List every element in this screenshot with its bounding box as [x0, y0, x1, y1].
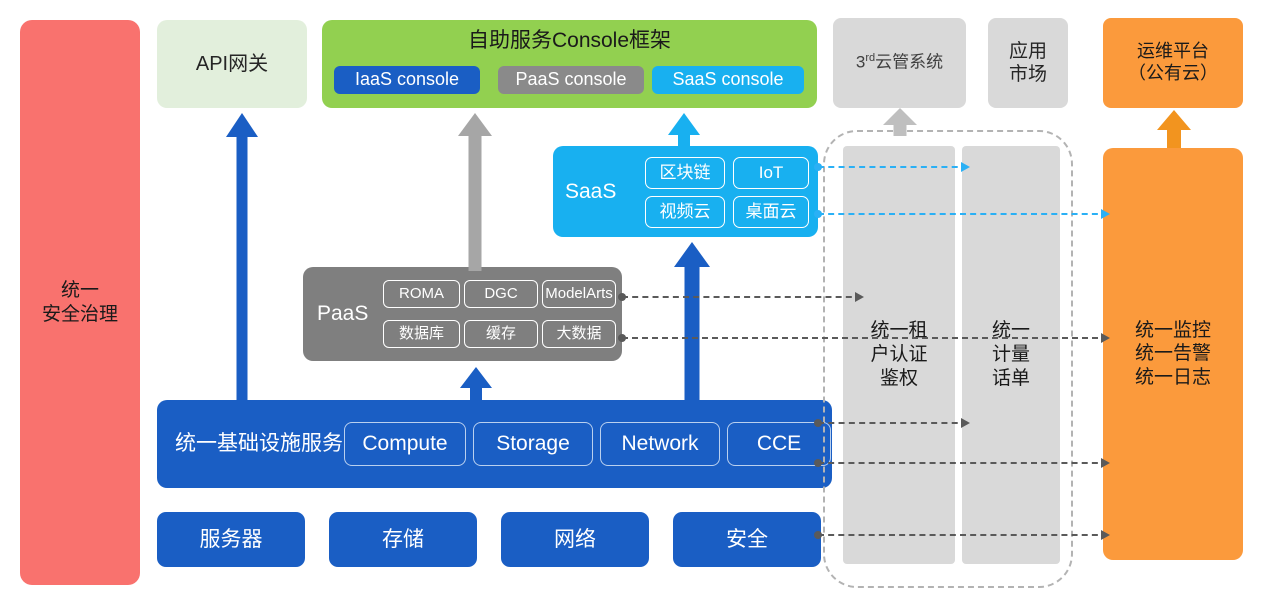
ops-platform-body-box: 统一监控 统一告警 统一日志 [1103, 148, 1243, 560]
unified-infrastructure-box: 统一基础设施服务 Compute Storage Network CCE [157, 400, 832, 488]
dashed-saas-to-ops [818, 213, 1108, 215]
architecture-diagram: 统一 安全治理 API网关 自助服务Console框架 IaaS console… [0, 0, 1265, 605]
console-frame-title: 自助服务Console框架 [322, 28, 817, 54]
tenant-auth-column: 统一租 户认证 鉴权 [843, 146, 955, 564]
arrow-head-icon [1101, 530, 1110, 540]
saas-chip-desktop-cloud[interactable]: 桌面云 [733, 196, 809, 228]
connector-dot [814, 210, 822, 218]
paas-chip-modelarts[interactable]: ModelArts [542, 280, 616, 308]
connector-dot [814, 459, 822, 467]
infra-chip-compute[interactable]: Compute [344, 422, 466, 466]
arrow-head-icon [1101, 333, 1110, 343]
paas-chip-cache[interactable]: 缓存 [464, 320, 538, 348]
unified-infrastructure-label: 统一基础设施服务 [175, 400, 343, 488]
connector-dot [618, 293, 626, 301]
resource-box-server[interactable]: 服务器 [157, 512, 305, 567]
third-party-cloud-mgmt-box: 3rd云管系统 [833, 18, 966, 108]
dashed-saas-to-metering [818, 166, 968, 168]
paas-console-chip[interactable]: PaaS console [498, 66, 644, 94]
paas-chip-roma[interactable]: ROMA [383, 280, 460, 308]
connector-dot [814, 163, 822, 171]
dashed-infra-to-ops [818, 462, 1108, 464]
resource-box-network[interactable]: 网络 [501, 512, 649, 567]
arrow-paas-to-console [458, 113, 492, 271]
arrow-infra-to-paas [460, 367, 492, 404]
infra-chip-storage[interactable]: Storage [473, 422, 593, 466]
arrow-infra-to-saas [674, 242, 710, 404]
connector-dot [814, 531, 822, 539]
dashed-paas-to-ops [622, 337, 1108, 339]
infra-chip-network[interactable]: Network [600, 422, 720, 466]
resource-box-storage[interactable]: 存储 [329, 512, 477, 567]
dashed-security-to-ops [818, 534, 1108, 536]
api-gateway-box: API网关 [157, 20, 307, 108]
iaas-console-chip[interactable]: IaaS console [334, 66, 480, 94]
saas-layer-label: SaaS [565, 146, 616, 237]
resource-box-security[interactable]: 安全 [673, 512, 821, 567]
arrow-shared-to-third-cloud [883, 108, 917, 136]
self-service-console-frame: 自助服务Console框架 IaaS console PaaS console … [322, 20, 817, 108]
arrow-saas-to-console [668, 113, 700, 151]
metering-billing-column: 统一 计量 话单 [962, 146, 1060, 564]
paas-layer-label: PaaS [317, 267, 368, 361]
paas-chip-dgc[interactable]: DGC [464, 280, 538, 308]
ordinal-superscript: rd [865, 52, 875, 64]
security-governance-band: 统一 安全治理 [20, 20, 140, 585]
dashed-paas-to-tenant-auth [622, 296, 862, 298]
saas-chip-iot[interactable]: IoT [733, 157, 809, 189]
saas-chip-blockchain[interactable]: 区块链 [645, 157, 725, 189]
arrow-ops-body-to-ops-head [1157, 110, 1191, 148]
arrow-head-icon [855, 292, 864, 302]
ops-platform-head-box: 运维平台 （公有云） [1103, 18, 1243, 108]
saas-chip-video-cloud[interactable]: 视频云 [645, 196, 725, 228]
arrow-head-icon [961, 418, 970, 428]
saas-layer-box: SaaS 区块链 IoT 视频云 桌面云 [553, 146, 818, 237]
app-market-box: 应用 市场 [988, 18, 1068, 108]
arrow-infra-to-api-gateway [226, 113, 258, 403]
arrow-head-icon [961, 162, 970, 172]
arrow-head-icon [1101, 209, 1110, 219]
arrow-head-icon [1101, 458, 1110, 468]
connector-dot [814, 419, 822, 427]
saas-console-chip[interactable]: SaaS console [652, 66, 804, 94]
connector-dot [618, 334, 626, 342]
paas-chip-database[interactable]: 数据库 [383, 320, 460, 348]
paas-chip-bigdata[interactable]: 大数据 [542, 320, 616, 348]
dashed-infra-to-metering [818, 422, 968, 424]
paas-layer-box: PaaS ROMA DGC ModelArts 数据库 缓存 大数据 [303, 267, 622, 361]
third-party-cloud-label: 3rd云管系统 [856, 52, 943, 73]
